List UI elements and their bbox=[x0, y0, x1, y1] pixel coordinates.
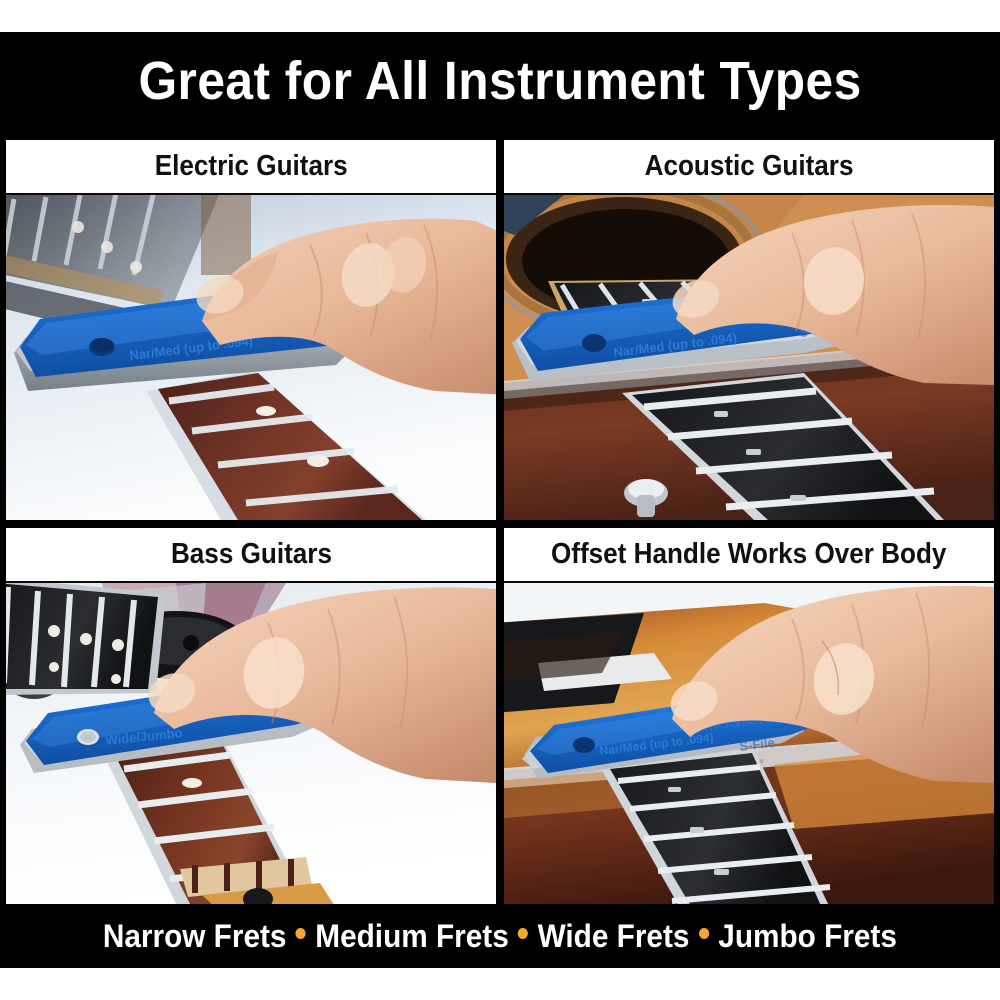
panel-label-offset-handle: Offset Handle Works Over Body bbox=[504, 528, 994, 583]
bullet-separator-icon bbox=[296, 928, 306, 939]
footer-band: Narrow Frets Medium Frets Wide Frets Jum… bbox=[0, 904, 1000, 968]
panel-photo-offset-handle: Nar/Med (up to .094) MUSICNOMAD S-File bbox=[504, 583, 994, 908]
fret-size-wide: Wide Frets bbox=[538, 920, 690, 952]
panel-label-bass-guitars: Bass Guitars bbox=[6, 528, 496, 583]
panel-acoustic-guitars[interactable]: Acoustic Guitars bbox=[504, 140, 994, 520]
photo-bass-guitars: Wide/Jumbo bbox=[6, 583, 496, 908]
fret-size-jumbo: Jumbo Frets bbox=[718, 920, 897, 952]
instrument-panel-grid: Electric Guitars bbox=[6, 140, 994, 904]
fret-size-list: Narrow Frets Medium Frets Wide Frets Jum… bbox=[103, 920, 897, 952]
photo-offset-handle: Nar/Med (up to .094) MUSICNOMAD S-File bbox=[504, 583, 994, 908]
panel-photo-acoustic-guitars: Nar/Med (up to .094) MUSICNOMAD S-File bbox=[504, 195, 994, 520]
photo-acoustic-guitars: Nar/Med (up to .094) MUSICNOMAD S-File bbox=[504, 195, 994, 520]
panel-label-text: Acoustic Guitars bbox=[645, 152, 854, 181]
panel-label-text: Bass Guitars bbox=[170, 540, 331, 569]
panel-photo-bass-guitars: Wide/Jumbo bbox=[6, 583, 496, 908]
panel-photo-electric-guitars: Nar/Med (up to .094) MUSICNOMAD S-File bbox=[6, 195, 496, 520]
panel-label-text: Offset Handle Works Over Body bbox=[551, 540, 946, 569]
fret-size-narrow: Narrow Frets bbox=[103, 920, 287, 952]
fret-size-medium: Medium Frets bbox=[315, 920, 508, 952]
panel-label-electric-guitars: Electric Guitars bbox=[6, 140, 496, 195]
product-infographic: Great for All Instrument Types Electric … bbox=[0, 0, 1000, 1000]
panel-offset-handle[interactable]: Offset Handle Works Over Body bbox=[504, 528, 994, 908]
panel-label-acoustic-guitars: Acoustic Guitars bbox=[504, 140, 994, 195]
page-title: Great for All Instrument Types bbox=[138, 54, 861, 108]
photo-electric-guitars: Nar/Med (up to .094) MUSICNOMAD S-File bbox=[6, 195, 496, 520]
panel-label-text: Electric Guitars bbox=[155, 152, 348, 181]
bullet-separator-icon bbox=[518, 928, 528, 939]
poster-title-band: Great for All Instrument Types bbox=[0, 32, 1000, 130]
bullet-separator-icon bbox=[699, 928, 709, 939]
panel-bass-guitars[interactable]: Bass Guitars bbox=[6, 528, 496, 908]
panel-electric-guitars[interactable]: Electric Guitars bbox=[6, 140, 496, 520]
